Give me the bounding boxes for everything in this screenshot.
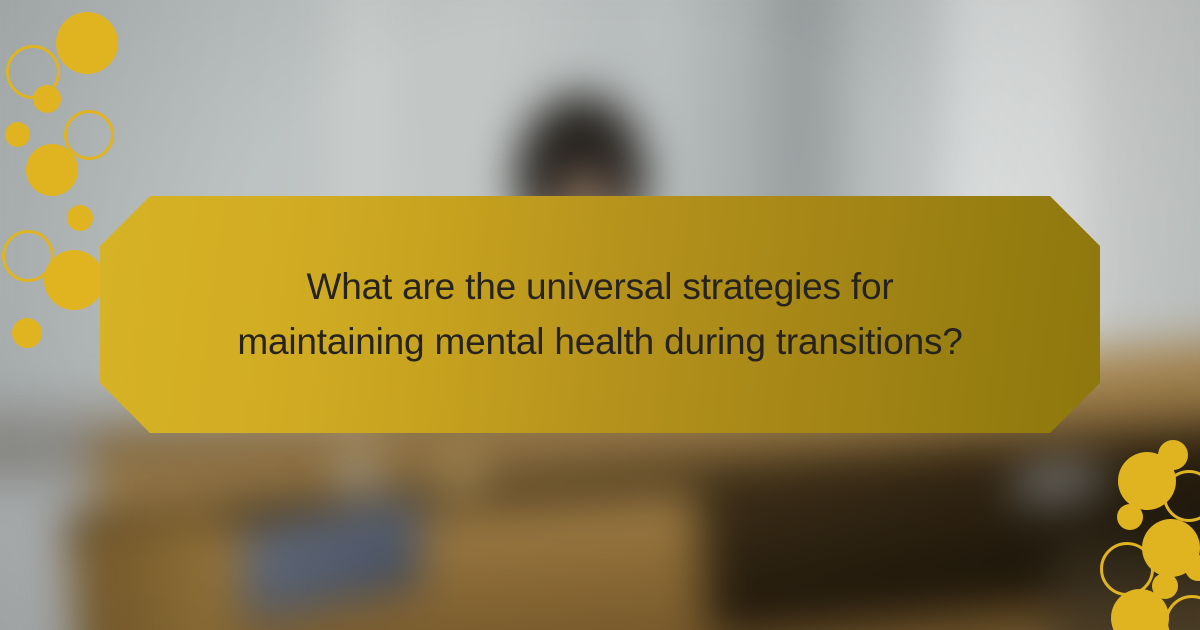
question-banner: What are the universal strategies for ma… — [100, 196, 1100, 433]
question-text: What are the universal strategies for ma… — [180, 260, 1020, 368]
share-card-canvas: What are the universal strategies for ma… — [0, 0, 1200, 630]
